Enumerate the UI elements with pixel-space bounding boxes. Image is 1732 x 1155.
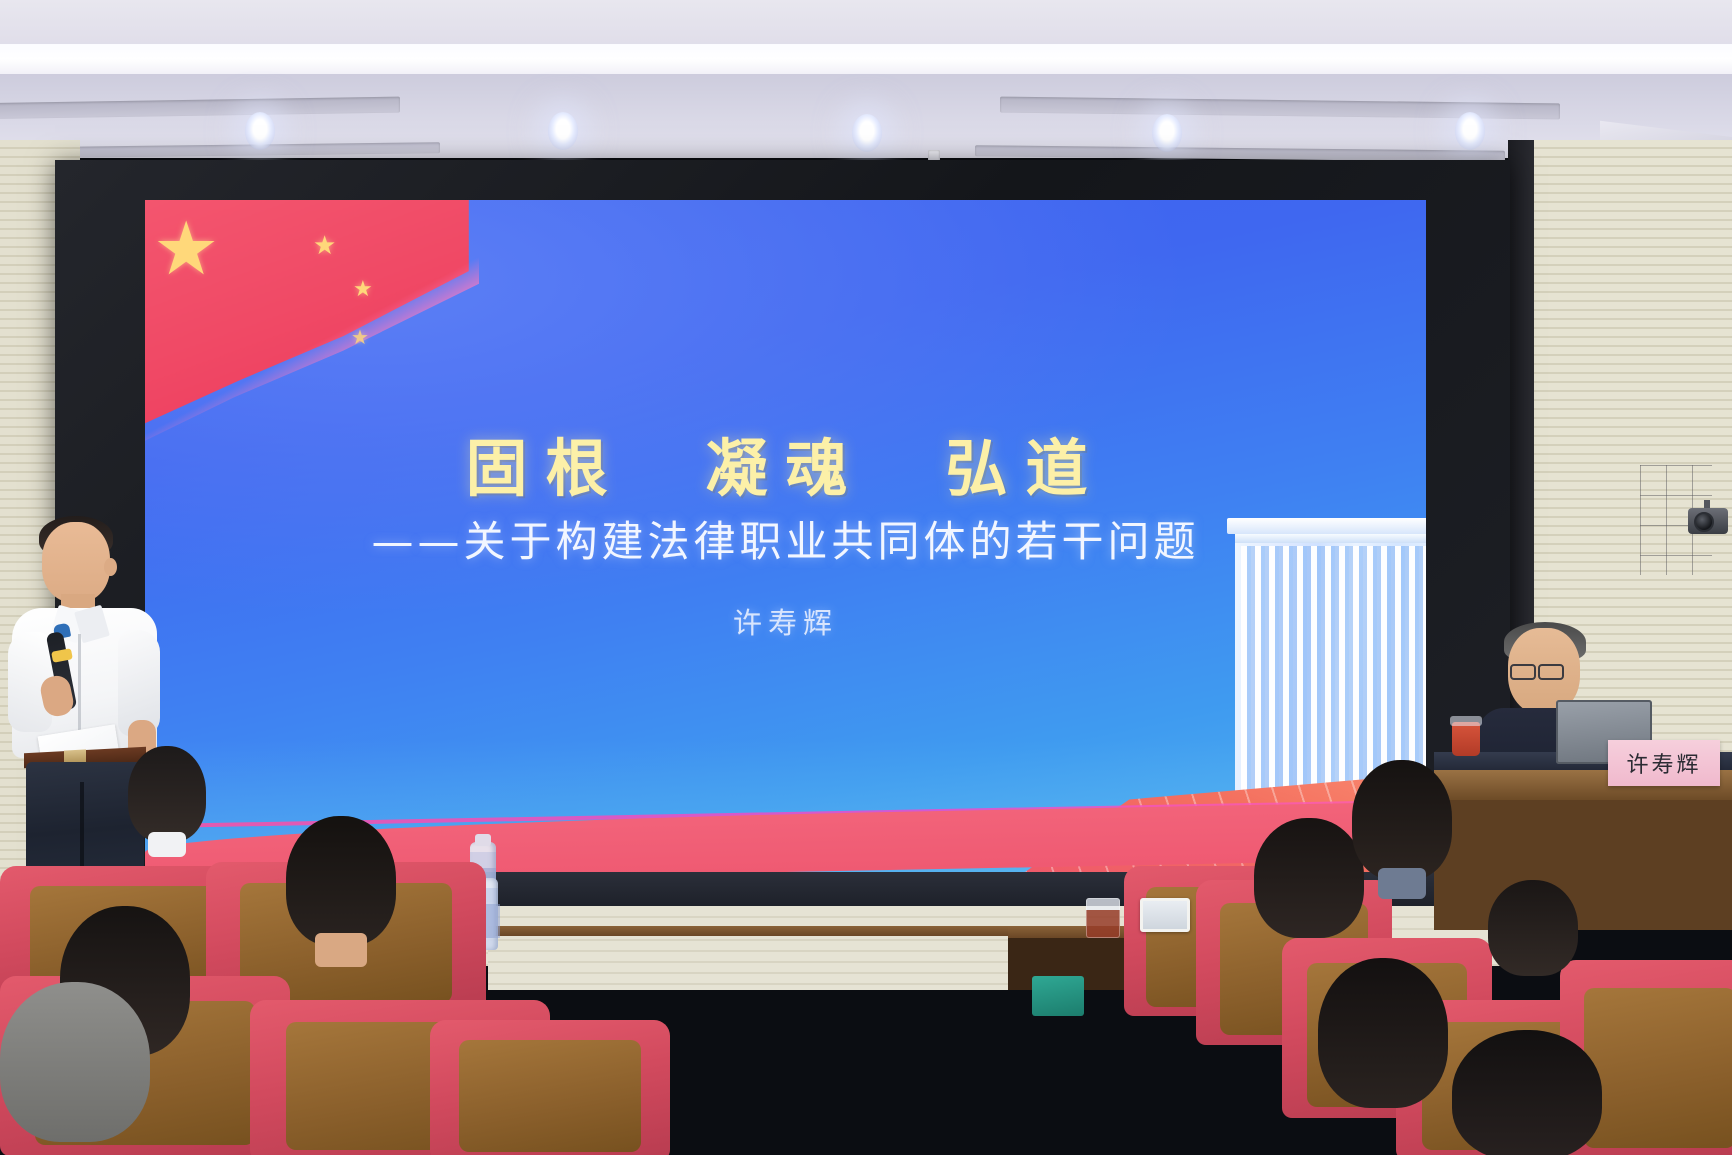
eyeglasses-icon bbox=[1510, 664, 1536, 680]
downlight-icon bbox=[1152, 114, 1182, 152]
audience-member bbox=[1254, 818, 1364, 938]
tea-cup-rim bbox=[1450, 716, 1482, 726]
audience-member bbox=[1318, 958, 1448, 1108]
downlight-icon bbox=[852, 114, 882, 152]
presentation-screen[interactable]: ★ ★ ★ ★ 固根 凝魂 弘道 ——关于构建法律职业共同体的若干问题 许寿辉 bbox=[145, 200, 1426, 872]
audience-member bbox=[286, 816, 396, 946]
ceiling-light-strip bbox=[0, 44, 1732, 74]
slide-title: 固根 凝魂 弘道 bbox=[145, 418, 1426, 508]
audience-member bbox=[128, 746, 206, 842]
drinking-glass-icon bbox=[1086, 898, 1120, 938]
downlight-icon bbox=[245, 112, 275, 150]
audience-member bbox=[1352, 760, 1452, 880]
presenter-ear bbox=[104, 558, 117, 576]
camera-icon bbox=[1684, 500, 1732, 542]
flag-star-icon: ★ bbox=[313, 232, 336, 258]
flag-star-icon: ★ bbox=[351, 328, 369, 348]
presenter-trouser-seam bbox=[80, 782, 84, 874]
downlight-icon bbox=[1455, 112, 1485, 150]
eyeglasses-icon bbox=[1538, 664, 1564, 680]
audience-member bbox=[1488, 880, 1578, 976]
downlight-icon bbox=[548, 112, 578, 150]
flag-star-icon: ★ bbox=[153, 212, 219, 286]
panelist-place-card: 许寿辉 bbox=[1608, 740, 1720, 786]
auditorium-seat[interactable] bbox=[430, 1020, 670, 1155]
audience-member bbox=[1452, 1030, 1602, 1155]
lecture-hall-scene: ★ ★ ★ ★ 固根 凝魂 弘道 ——关于构建法律职业共同体的若干问题 许寿辉 bbox=[0, 0, 1732, 1155]
audience-desk-front bbox=[488, 930, 1048, 990]
green-bag bbox=[1032, 976, 1084, 1016]
slide-subtitle: ——关于构建法律职业共同体的若干问题 bbox=[145, 508, 1426, 569]
seat-plate-blank bbox=[1140, 898, 1190, 932]
audience-desk-top bbox=[488, 926, 1048, 936]
audience-member bbox=[0, 982, 150, 1142]
flag-star-icon: ★ bbox=[353, 278, 373, 300]
tea-cup-icon bbox=[1452, 722, 1480, 756]
presenter-trousers bbox=[26, 762, 144, 874]
presenter-head bbox=[42, 522, 110, 602]
slide-author: 许寿辉 bbox=[145, 600, 1426, 642]
